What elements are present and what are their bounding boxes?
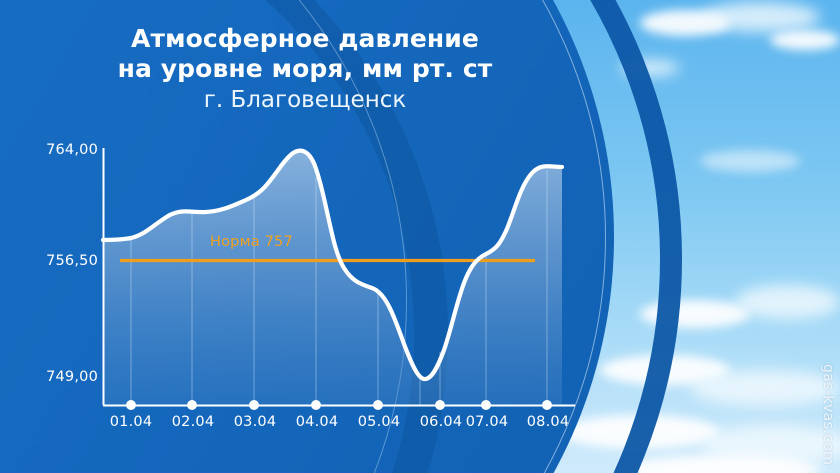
cloud-shape [700,2,820,32]
cloud-shape [690,370,840,406]
watermark: gas-kvas.com [820,364,836,465]
x-tick-label-1: 02.04 [163,414,223,430]
area-fill [103,151,562,406]
y-tick-label-2: 749,00 [20,369,98,385]
pressure-chart: 764,00 756,50 749,00 01.04 02.04 03.04 0… [0,0,610,473]
x-tick-label-7: 08.04 [518,414,578,430]
cloud-shape [700,150,800,172]
x-tick-label-0: 01.04 [101,414,161,430]
norm-line-label: Норма 757 [210,234,293,250]
x-tick-label-2: 03.04 [225,414,285,430]
y-tick-label-1: 756,50 [20,253,98,269]
cloud-shape [735,285,840,319]
y-tick-label-0: 764,00 [20,142,98,158]
x-tick-label-4: 05.04 [349,414,409,430]
cloud-shape [770,30,840,50]
x-tick-label-6: 07.04 [457,414,517,430]
infographic-root: Атмосферное давление на уровне моря, мм … [0,0,840,473]
x-tick-label-3: 04.04 [287,414,347,430]
chart-plot-svg [0,0,610,473]
